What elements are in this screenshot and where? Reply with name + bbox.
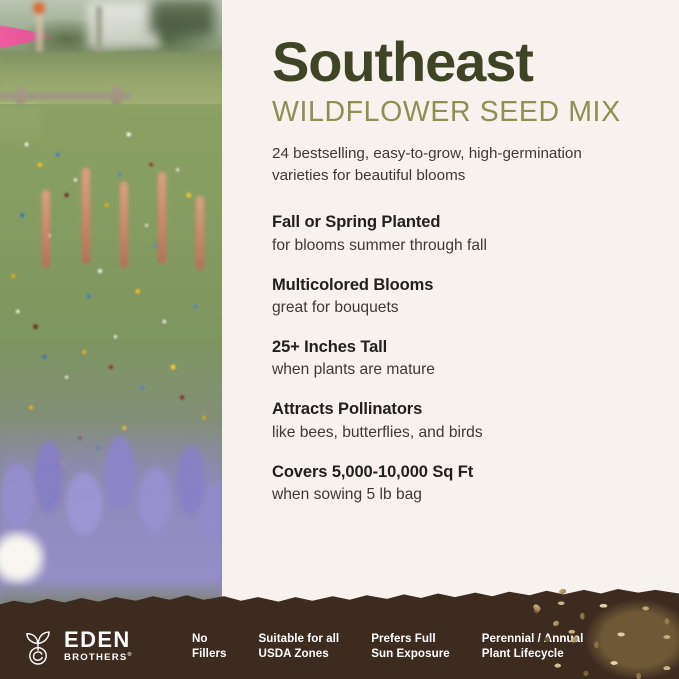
badge-plant-lifecycle: Perennial / Annual Plant Lifecycle (482, 631, 584, 661)
feature-heading: Attracts Pollinators (272, 399, 645, 420)
trademark-symbol: ® (127, 652, 132, 658)
feature-heading: 25+ Inches Tall (272, 337, 645, 358)
feature-item: Fall or Spring Planted for blooms summer… (272, 212, 645, 256)
badge-no-fillers: No Fillers (192, 631, 227, 661)
photo-lawn-strip (0, 52, 222, 112)
photo-tree-mass (150, 0, 214, 34)
brand-wordmark: EDEN BROTHERS® (64, 629, 133, 663)
feature-item: Covers 5,000-10,000 Sq Ft when sowing 5 … (272, 462, 645, 506)
badge-line-2: Fillers (192, 646, 227, 661)
photo-fence-post-mid (96, 6, 102, 58)
seedling-sprout-icon (20, 627, 56, 665)
feature-heading: Multicolored Blooms (272, 275, 645, 296)
brand-secondary-text: BROTHERS (64, 652, 127, 663)
badge-line-1: No (192, 632, 208, 645)
brand-name-secondary: BROTHERS® (64, 653, 133, 663)
feature-heading: Fall or Spring Planted (272, 212, 645, 233)
feature-heading: Covers 5,000-10,000 Sq Ft (272, 462, 645, 483)
feature-subtext: great for bouquets (272, 297, 645, 319)
badge-line-2: Plant Lifecycle (482, 646, 584, 661)
footer-content-row: EDEN BROTHERS® No Fillers Suitable for a… (0, 613, 679, 679)
footer-badge-group: No Fillers Suitable for all USDA Zones P… (152, 631, 583, 661)
photo-orange-marker (33, 2, 45, 14)
badge-sun-exposure: Prefers Full Sun Exposure (371, 631, 450, 661)
badge-line-1: Suitable for all (259, 632, 340, 645)
feature-subtext: when sowing 5 lb bag (272, 484, 645, 506)
badge-line-2: USDA Zones (259, 646, 340, 661)
tagline-text: 24 bestselling, easy-to-grow, high-germi… (272, 143, 624, 186)
badge-line-2: Sun Exposure (371, 646, 450, 661)
badge-line-1: Perennial / Annual (482, 632, 584, 645)
brand-logo[interactable]: EDEN BROTHERS® (20, 627, 152, 665)
page-title: Southeast (272, 34, 645, 90)
feature-subtext: for blooms summer through fall (272, 235, 645, 257)
soil-footer-bar: EDEN BROTHERS® No Fillers Suitable for a… (0, 589, 679, 679)
content-panel: Southeast WILDFLOWER SEED MIX 24 bestsel… (222, 0, 679, 610)
feature-list: Fall or Spring Planted for blooms summer… (272, 212, 645, 506)
badge-usda-zones: Suitable for all USDA Zones (259, 631, 340, 661)
product-info-card: Southeast WILDFLOWER SEED MIX 24 bestsel… (0, 0, 679, 679)
feature-subtext: like bees, butterflies, and birds (272, 422, 645, 444)
wildflower-meadow-photo (0, 0, 222, 610)
brand-name-primary: EDEN (64, 629, 133, 651)
badge-line-1: Prefers Full (371, 632, 435, 645)
page-subtitle: WILDFLOWER SEED MIX (272, 98, 645, 128)
photo-white-clump (0, 530, 46, 586)
feature-subtext: when plants are mature (272, 359, 645, 381)
feature-item: 25+ Inches Tall when plants are mature (272, 337, 645, 381)
feature-item: Attracts Pollinators like bees, butterfl… (272, 399, 645, 443)
feature-item: Multicolored Blooms great for bouquets (272, 275, 645, 319)
